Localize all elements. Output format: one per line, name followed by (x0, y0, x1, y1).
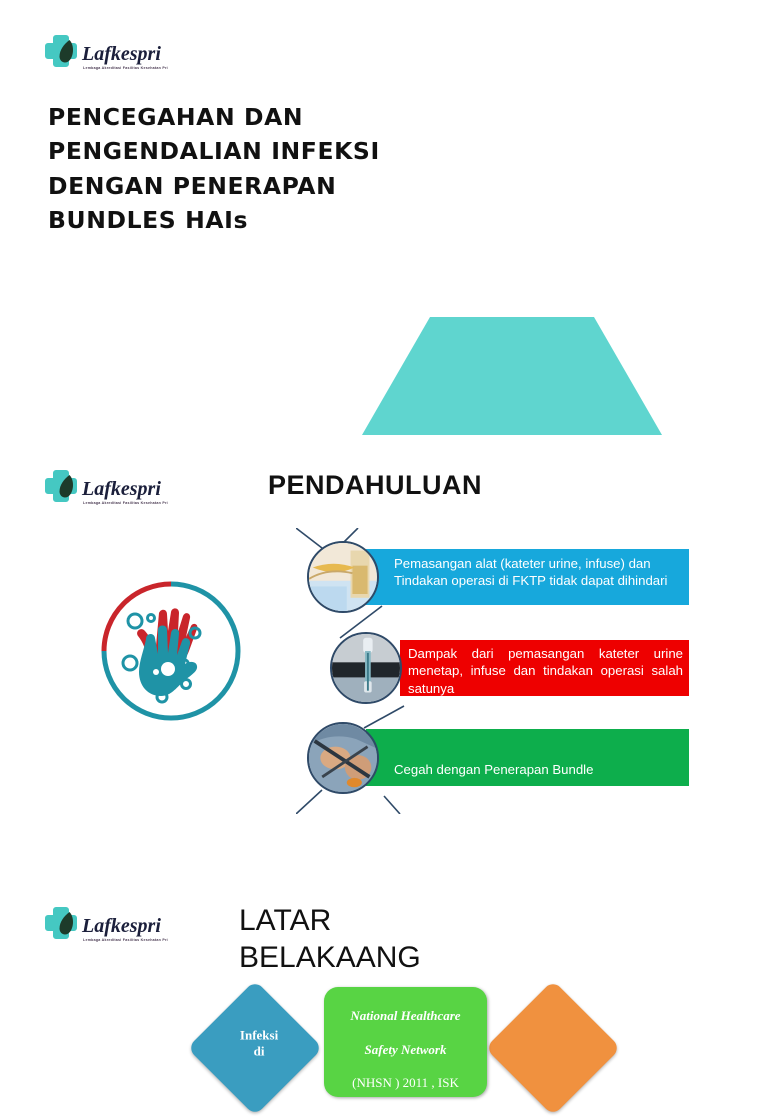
step-bar-green: Cegah dengan Penerapan Bundle (366, 729, 689, 786)
lafkespri-wordmark: Lafkespri (81, 915, 161, 937)
lafkespri-tagline: Lembaga Akreditasi Fasilitas Kesehatan P… (83, 66, 168, 70)
hand-hygiene-svg (97, 577, 245, 725)
lafkespri-tagline: Lembaga Akreditasi Fasilitas Kesehatan P… (83, 938, 168, 942)
step-bar-blue-text: Pemasangan alat (kateter urine, infuse) … (394, 555, 681, 590)
catheter-photo (309, 543, 377, 611)
diamond-orange (485, 980, 621, 1116)
lafkespri-wordmark: Lafkespri (81, 478, 161, 500)
hand-hygiene-logo (97, 577, 245, 725)
iv-drip-photo (332, 634, 400, 702)
lafkespri-logo-svg: Lafkespri Lembaga Akreditasi Fasilitas K… (44, 31, 168, 75)
nhsn-card-text: National Healthcare Safety Network (NHSN… (329, 991, 482, 1097)
trapezoid-svg (362, 317, 662, 435)
lafkespri-tagline: Lembaga Akreditasi Fasilitas Kesehatan P… (83, 501, 168, 505)
lafkespri-logo-svg-2: Lafkespri Lembaga Akreditasi Fasilitas K… (44, 466, 168, 510)
nhsn-line-2: Safety Network (365, 1042, 447, 1057)
lafkespri-logo-slide1: Lafkespri Lembaga Akreditasi Fasilitas K… (44, 31, 168, 75)
thumbnail-catheter (307, 541, 379, 613)
cross-icon (45, 907, 77, 939)
lafkespri-wordmark: Lafkespri (81, 43, 161, 65)
latar-belakang-heading: LATAR BELAKAANG (239, 903, 499, 976)
step-bar-green-text: Cegah dengan Penerapan Bundle (394, 761, 681, 778)
thumbnail-iv-drip (330, 632, 402, 704)
diamond-blue-label: Infeksi di (217, 1028, 301, 1061)
nhsn-line-1: National Healthcare (350, 1008, 460, 1023)
lafkespri-logo-slide2: Lafkespri Lembaga Akreditasi Fasilitas K… (44, 466, 168, 510)
trapezoid-shape (362, 317, 662, 435)
thumbnail-surgery (307, 722, 379, 794)
step-bar-blue: Pemasangan alat (kateter urine, infuse) … (366, 549, 689, 605)
lafkespri-logo-slide3: Lafkespri Lembaga Akreditasi Fasilitas K… (44, 903, 168, 947)
pendahuluan-heading: PENDAHULUAN (268, 470, 482, 501)
step-bar-red: Dampak dari pemasangan kateter urine men… (400, 640, 689, 696)
surgery-photo (309, 724, 377, 792)
lafkespri-logo-svg-3: Lafkespri Lembaga Akreditasi Fasilitas K… (44, 903, 168, 947)
diamond-blue: Infeksi di (187, 980, 323, 1116)
cross-icon (45, 35, 77, 67)
nhsn-green-card: National Healthcare Safety Network (NHSN… (324, 987, 487, 1097)
nhsn-line-3: (NHSN ) 2011 , ISK (352, 1075, 459, 1090)
cross-icon (45, 470, 77, 502)
step-bar-red-text: Dampak dari pemasangan kateter urine men… (408, 645, 683, 696)
slide1-title: PENCEGAHAN DAN PENGENDALIAN INFEKSI DENG… (48, 100, 468, 237)
